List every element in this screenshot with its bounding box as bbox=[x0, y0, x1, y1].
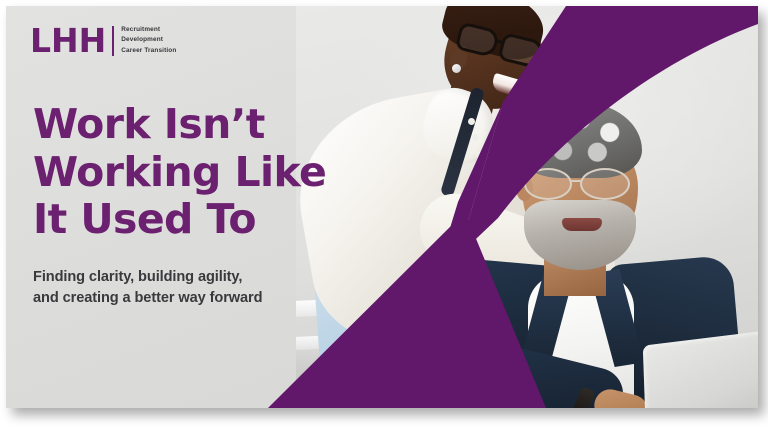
logo-wordmark: LHH bbox=[30, 24, 106, 57]
headline-line-3: It Used To bbox=[33, 196, 333, 244]
logo-tagline-line-3: Career Transition bbox=[121, 46, 176, 56]
subtitle-line-2: and creating a better way forward bbox=[33, 288, 319, 309]
headline-line-1: Work Isn’t bbox=[33, 101, 333, 149]
hero-photograph bbox=[296, 6, 758, 408]
lhh-logo[interactable]: LHH Recruitment Development Career Trans… bbox=[30, 24, 176, 57]
subtitle-line-1: Finding clarity, building agility, bbox=[33, 267, 319, 288]
page-subtitle: Finding clarity, building agility, and c… bbox=[33, 267, 319, 308]
headline-line-2: Working Like bbox=[33, 149, 333, 197]
logo-tagline-line-2: Development bbox=[121, 35, 176, 45]
logo-tagline-line-1: Recruitment bbox=[121, 25, 176, 35]
slide-canvas: LHH Recruitment Development Career Trans… bbox=[6, 6, 758, 408]
page-title: Work Isn’t Working Like It Used To bbox=[33, 101, 333, 244]
logo-tagline: Recruitment Development Career Transitio… bbox=[121, 25, 176, 56]
man-glasses-icon bbox=[522, 168, 638, 202]
figure-seated-man bbox=[466, 106, 758, 408]
logo-divider bbox=[112, 26, 114, 56]
